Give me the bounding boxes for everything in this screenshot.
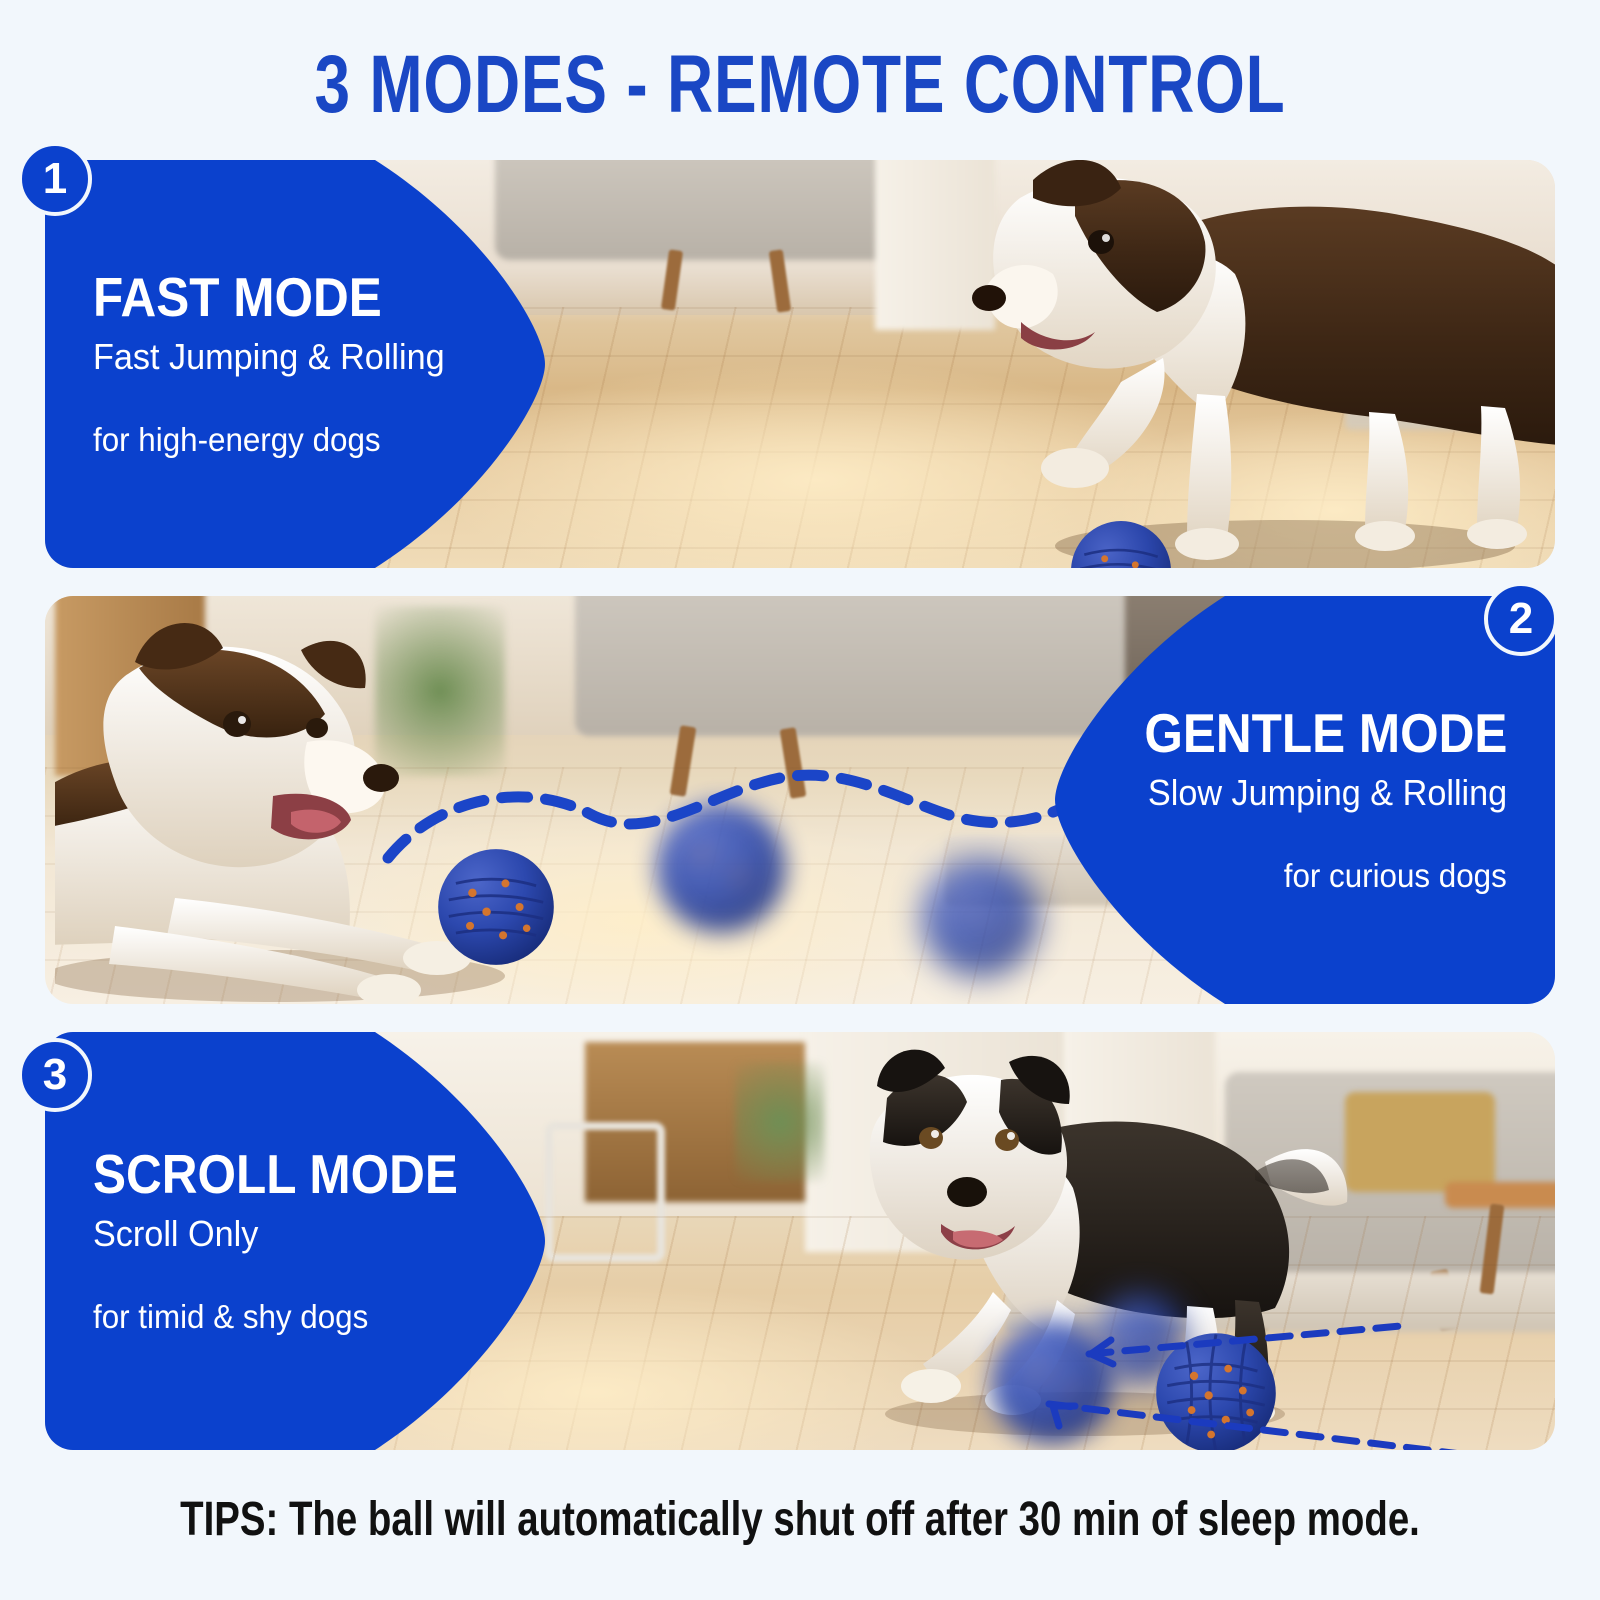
page-title: 3 MODES - REMOTE CONTROL bbox=[176, 38, 1424, 132]
mode-panel-scroll: SCROLL MODE Scroll Only for timid & shy … bbox=[45, 1032, 1555, 1450]
mode-title: FAST MODE bbox=[93, 270, 382, 325]
toy-ball bbox=[1070, 520, 1172, 568]
toy-ball-motion-blur bbox=[990, 1320, 1115, 1445]
mode-subtitle: Slow Jumping & Rolling bbox=[1148, 773, 1507, 813]
mode-panel-gentle: GENTLE MODE Slow Jumping & Rolling for c… bbox=[45, 596, 1555, 1004]
mode-panel-fast: FAST MODE Fast Jumping & Rolling for hig… bbox=[45, 160, 1555, 568]
tips-footer: TIPS: The ball will automatically shut o… bbox=[160, 1492, 1440, 1547]
mode-subtitle: Scroll Only bbox=[93, 1214, 258, 1254]
toy-ball-motion-blur bbox=[655, 802, 787, 934]
toy-ball bbox=[437, 848, 555, 966]
mode-text-gentle: GENTLE MODE Slow Jumping & Rolling for c… bbox=[1131, 596, 1507, 1004]
sofa-cushion bbox=[1345, 1092, 1495, 1192]
mode-note: for curious dogs bbox=[1284, 858, 1507, 894]
mode-note: for high-energy dogs bbox=[93, 422, 381, 458]
mode-badge-1: 1 bbox=[18, 142, 92, 216]
mode-badge-3: 3 bbox=[18, 1038, 92, 1112]
toy-ball-motion-blur bbox=[920, 858, 1040, 978]
house-plant bbox=[735, 1062, 825, 1182]
mode-subtitle: Fast Jumping & Rolling bbox=[93, 337, 445, 377]
toy-ball bbox=[1155, 1332, 1277, 1450]
dog-photo-fast bbox=[925, 160, 1555, 568]
infographic-page: 3 MODES - REMOTE CONTROL bbox=[0, 0, 1600, 1600]
mode-badge-2: 2 bbox=[1484, 582, 1558, 656]
mode-text-fast: FAST MODE Fast Jumping & Rolling for hig… bbox=[93, 160, 469, 568]
mode-text-scroll: SCROLL MODE Scroll Only for timid & shy … bbox=[93, 1032, 469, 1450]
mode-note: for timid & shy dogs bbox=[93, 1299, 368, 1335]
mode-overlay-scroll: SCROLL MODE Scroll Only for timid & shy … bbox=[45, 1032, 565, 1450]
mode-title: SCROLL MODE bbox=[93, 1147, 458, 1202]
mode-overlay-fast: FAST MODE Fast Jumping & Rolling for hig… bbox=[45, 160, 565, 568]
mode-overlay-gentle: GENTLE MODE Slow Jumping & Rolling for c… bbox=[1035, 596, 1555, 1004]
mode-title: GENTLE MODE bbox=[1144, 706, 1507, 761]
